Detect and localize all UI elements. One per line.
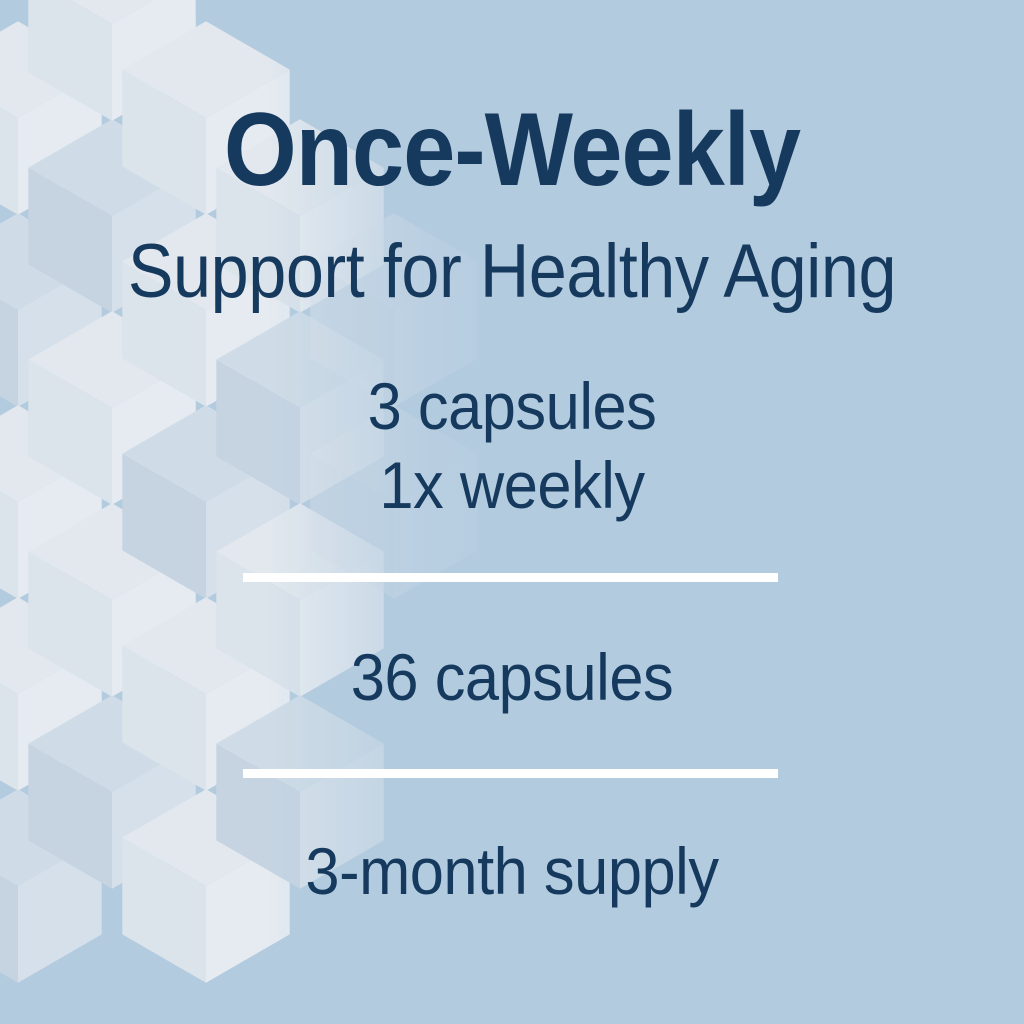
page-title: Once-Weekly bbox=[51, 98, 973, 202]
capsule-count-text: 36 capsules bbox=[36, 644, 988, 710]
page-subtitle: Support for Healthy Aging bbox=[51, 234, 973, 310]
divider-top bbox=[243, 573, 778, 582]
dosage-frequency-text: 1x weekly bbox=[36, 452, 988, 518]
panel-content: Once-Weekly Support for Healthy Aging 3 … bbox=[0, 0, 1024, 1024]
dosage-amount-text: 3 capsules bbox=[36, 373, 988, 439]
product-info-panel: Once-Weekly Support for Healthy Aging 3 … bbox=[0, 0, 1024, 1024]
divider-bottom bbox=[243, 769, 778, 778]
supply-duration-text: 3-month supply bbox=[36, 838, 988, 904]
